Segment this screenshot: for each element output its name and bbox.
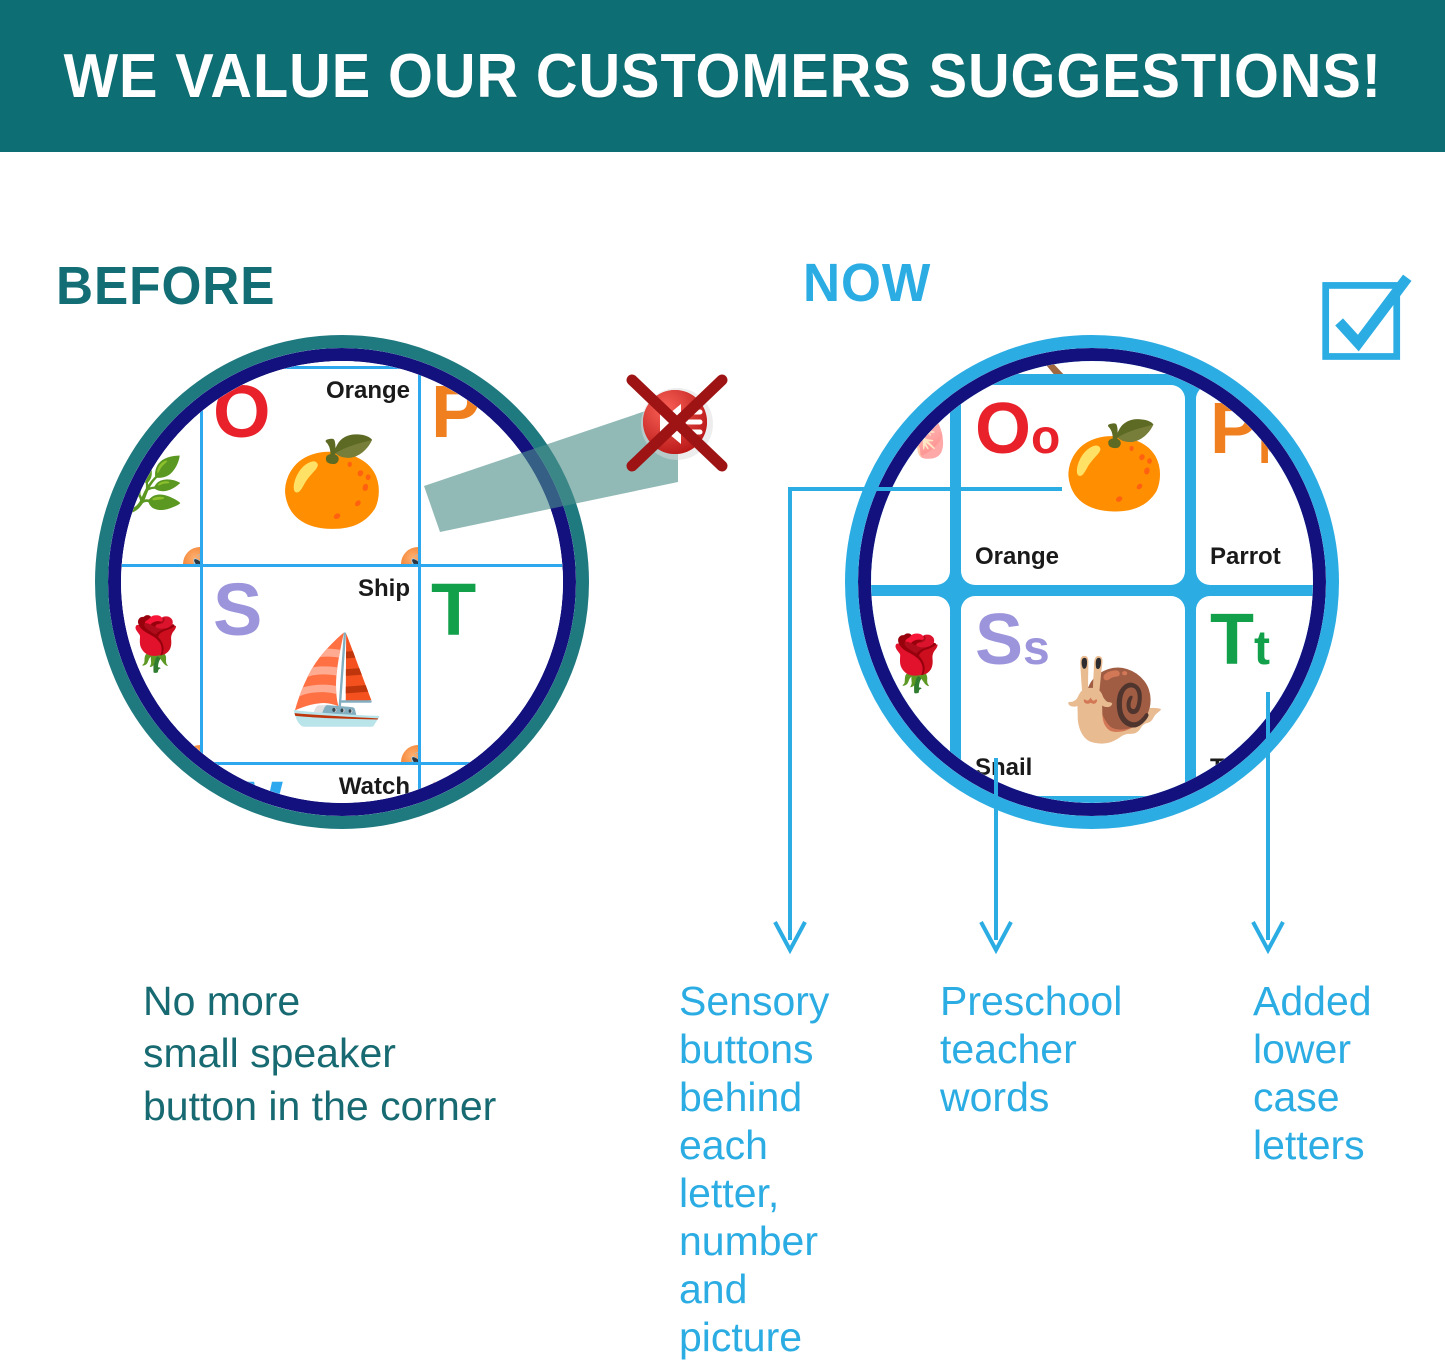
cell-letter: T — [431, 573, 476, 647]
cell-letter-upper: T — [1210, 600, 1254, 680]
grid-cell-t: T 🐅 — [421, 567, 563, 765]
nail-image: 🔨 — [1023, 361, 1078, 374]
nest-image: 🫁 — [878, 405, 948, 461]
orange-fruit-image: 🍊 — [1062, 423, 1167, 507]
cell-letter-lower: o — [1031, 411, 1060, 464]
grid-cell-side: 🫁 — [871, 385, 950, 585]
now-magnifier-ring: 🔨 🫁 Oo Orange 🍊 Pp — [858, 348, 1326, 816]
before-caption: No more small speaker button in the corn… — [143, 975, 663, 1132]
speaker-icon[interactable]: 🔊 — [401, 745, 421, 765]
cell-word: Orange — [975, 543, 1059, 571]
callout-preschool-words: Preschool teacher words — [940, 978, 1180, 1122]
before-section-label: BEFORE — [56, 255, 275, 317]
grid-cell-pp: Pp Parrot — [1196, 385, 1313, 585]
grid-cell-x: X — [421, 765, 563, 803]
grid-cell: 🔊 — [203, 361, 421, 369]
checkbox-checked-icon — [1318, 272, 1414, 368]
grid-cell — [421, 361, 563, 369]
cell-letter: W — [213, 771, 283, 803]
callout-lowercase: Added lower case letters — [1253, 978, 1428, 1170]
grid-cell — [871, 361, 950, 374]
orange-fruit-image: 🍊 — [278, 439, 385, 525]
grid-cell: 🔨 — [961, 361, 1185, 374]
speaker-icon[interactable]: 🔊 — [183, 547, 203, 567]
grid-cell-ss: Ss Snail 🐌 — [961, 596, 1185, 796]
now-magnifier: 🔨 🫁 Oo Orange 🍊 Pp — [845, 335, 1339, 829]
cell-letter: S — [213, 573, 262, 647]
no-speaker-icon — [612, 362, 742, 492]
cell-word: Parrot — [1210, 543, 1281, 571]
grid-cell-side: 🌿 🔊 — [121, 369, 203, 567]
now-alphabet-grid: 🔨 🫁 Oo Orange 🍊 Pp — [871, 361, 1313, 803]
cell-letter-upper: P — [1210, 389, 1258, 469]
grid-cell-oo: Oo Orange 🍊 — [961, 385, 1185, 585]
grid-cell-w: W Watch ⌚ — [203, 765, 421, 803]
grid-cell — [1196, 361, 1313, 374]
cell-letter-lower: s — [1023, 622, 1050, 675]
leaf-image: 🌿 — [121, 459, 184, 513]
banner-title: WE VALUE OUR CUSTOMERS SUGGESTIONS! — [63, 41, 1381, 112]
callout-sensory-buttons: Sensory buttons behind each letter, numb… — [679, 978, 869, 1362]
speaker-icon[interactable]: 🔊 — [183, 745, 203, 765]
grid-cell-side — [121, 765, 203, 803]
cell-word: Watch — [339, 773, 410, 801]
grid-cell-side: 🌹 🔊 — [121, 567, 203, 765]
cell-letters: Oo — [975, 393, 1060, 465]
cell-word: Orange — [326, 377, 410, 405]
ship-image: ⛵ — [283, 637, 390, 723]
cell-word: Tiger — [1210, 754, 1268, 782]
grid-cell-s: S Ship ⛵ 🔊 — [203, 567, 421, 765]
cell-letters: Ss — [975, 604, 1050, 676]
cell-letters: Pp — [1210, 393, 1287, 465]
callout-arrowhead-1 — [775, 922, 805, 950]
grid-cell-side: 🌹 — [871, 596, 950, 796]
rose-image: 🌹 — [883, 637, 950, 691]
callout-arrowhead-3 — [1253, 922, 1283, 950]
cell-letters: Tt — [1210, 604, 1270, 676]
now-section-label: NOW — [803, 252, 931, 314]
callout-arrowhead-2 — [981, 922, 1011, 950]
snail-image: 🐌 — [1062, 658, 1167, 742]
header-banner: WE VALUE OUR CUSTOMERS SUGGESTIONS! — [0, 0, 1445, 152]
cell-letter-lower: t — [1254, 622, 1270, 675]
cell-word: Snail — [975, 754, 1032, 782]
grid-cell-o: O Orange 🍊 🔊 — [203, 369, 421, 567]
rose-image: 🌹 — [123, 619, 188, 671]
cell-letter-upper: O — [975, 389, 1031, 469]
grid-cell-tt: Tt Tiger — [1196, 596, 1313, 796]
speaker-icon[interactable]: 🔊 — [401, 547, 421, 567]
cell-letter-upper: S — [975, 600, 1023, 680]
cell-letter-lower: p — [1258, 411, 1287, 464]
cell-letter: O — [213, 375, 271, 449]
grid-cell — [121, 361, 203, 369]
now-chart-view: 🔨 🫁 Oo Orange 🍊 Pp — [871, 361, 1313, 803]
cell-letter: X — [431, 771, 480, 803]
cell-word: Ship — [358, 575, 410, 603]
